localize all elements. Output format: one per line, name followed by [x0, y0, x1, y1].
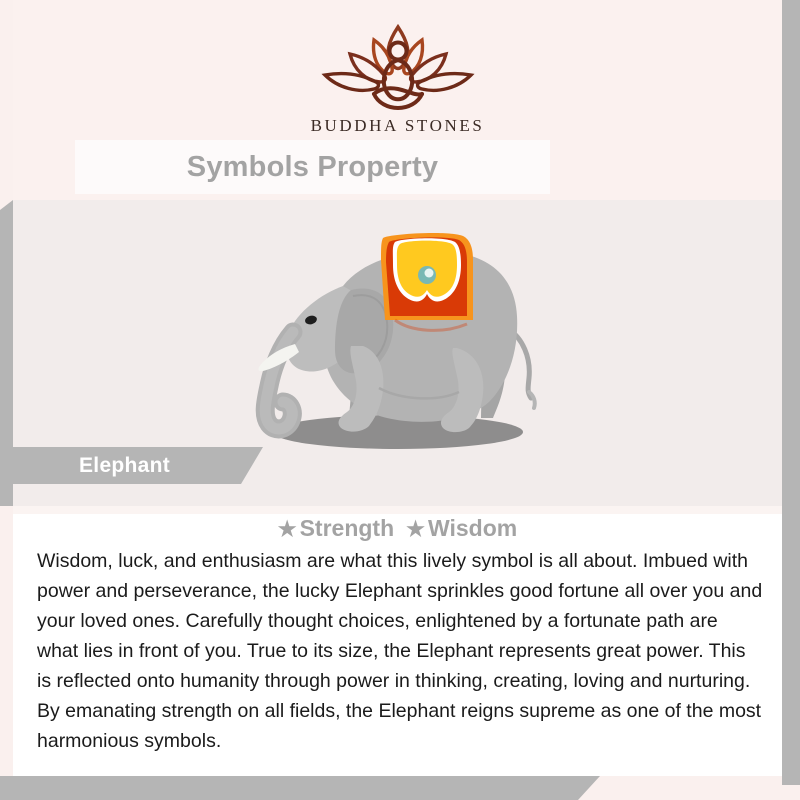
card-header: BUDDHA STONES Symbols Property — [13, 0, 782, 200]
page-title-band: Symbols Property — [75, 140, 550, 194]
trait-label: Wisdom — [428, 515, 517, 541]
symbol-name-band: Elephant — [13, 447, 263, 484]
walking-elephant-illustration-icon — [235, 220, 565, 460]
symbol-property-card: BUDDHA STONES Symbols Property — [0, 0, 800, 800]
trait-strength: ★Strength — [278, 515, 394, 542]
brand-name: BUDDHA STONES — [13, 116, 782, 136]
star-icon: ★ — [278, 518, 297, 541]
trait-wisdom: ★Wisdom — [406, 515, 517, 542]
symbol-description-panel: ★Strength★Wisdom Wisdom, luck, and enthu… — [13, 506, 782, 776]
lotus-meditation-logo-icon — [312, 18, 484, 114]
decorative-right-bar — [782, 0, 800, 785]
panel-top-fade — [13, 506, 782, 514]
star-icon: ★ — [406, 518, 425, 541]
symbol-traits: ★Strength★Wisdom — [13, 515, 782, 542]
decorative-left-bar — [0, 200, 13, 506]
decorative-bottom-bar — [0, 776, 600, 800]
brand-logo-block: BUDDHA STONES — [13, 18, 782, 136]
symbol-illustration-stage: Elephant — [13, 200, 782, 506]
symbol-name: Elephant — [79, 454, 170, 478]
trait-label: Strength — [300, 515, 395, 541]
symbol-description-text: Wisdom, luck, and enthusiasm are what th… — [37, 546, 764, 756]
page-title: Symbols Property — [187, 151, 438, 184]
